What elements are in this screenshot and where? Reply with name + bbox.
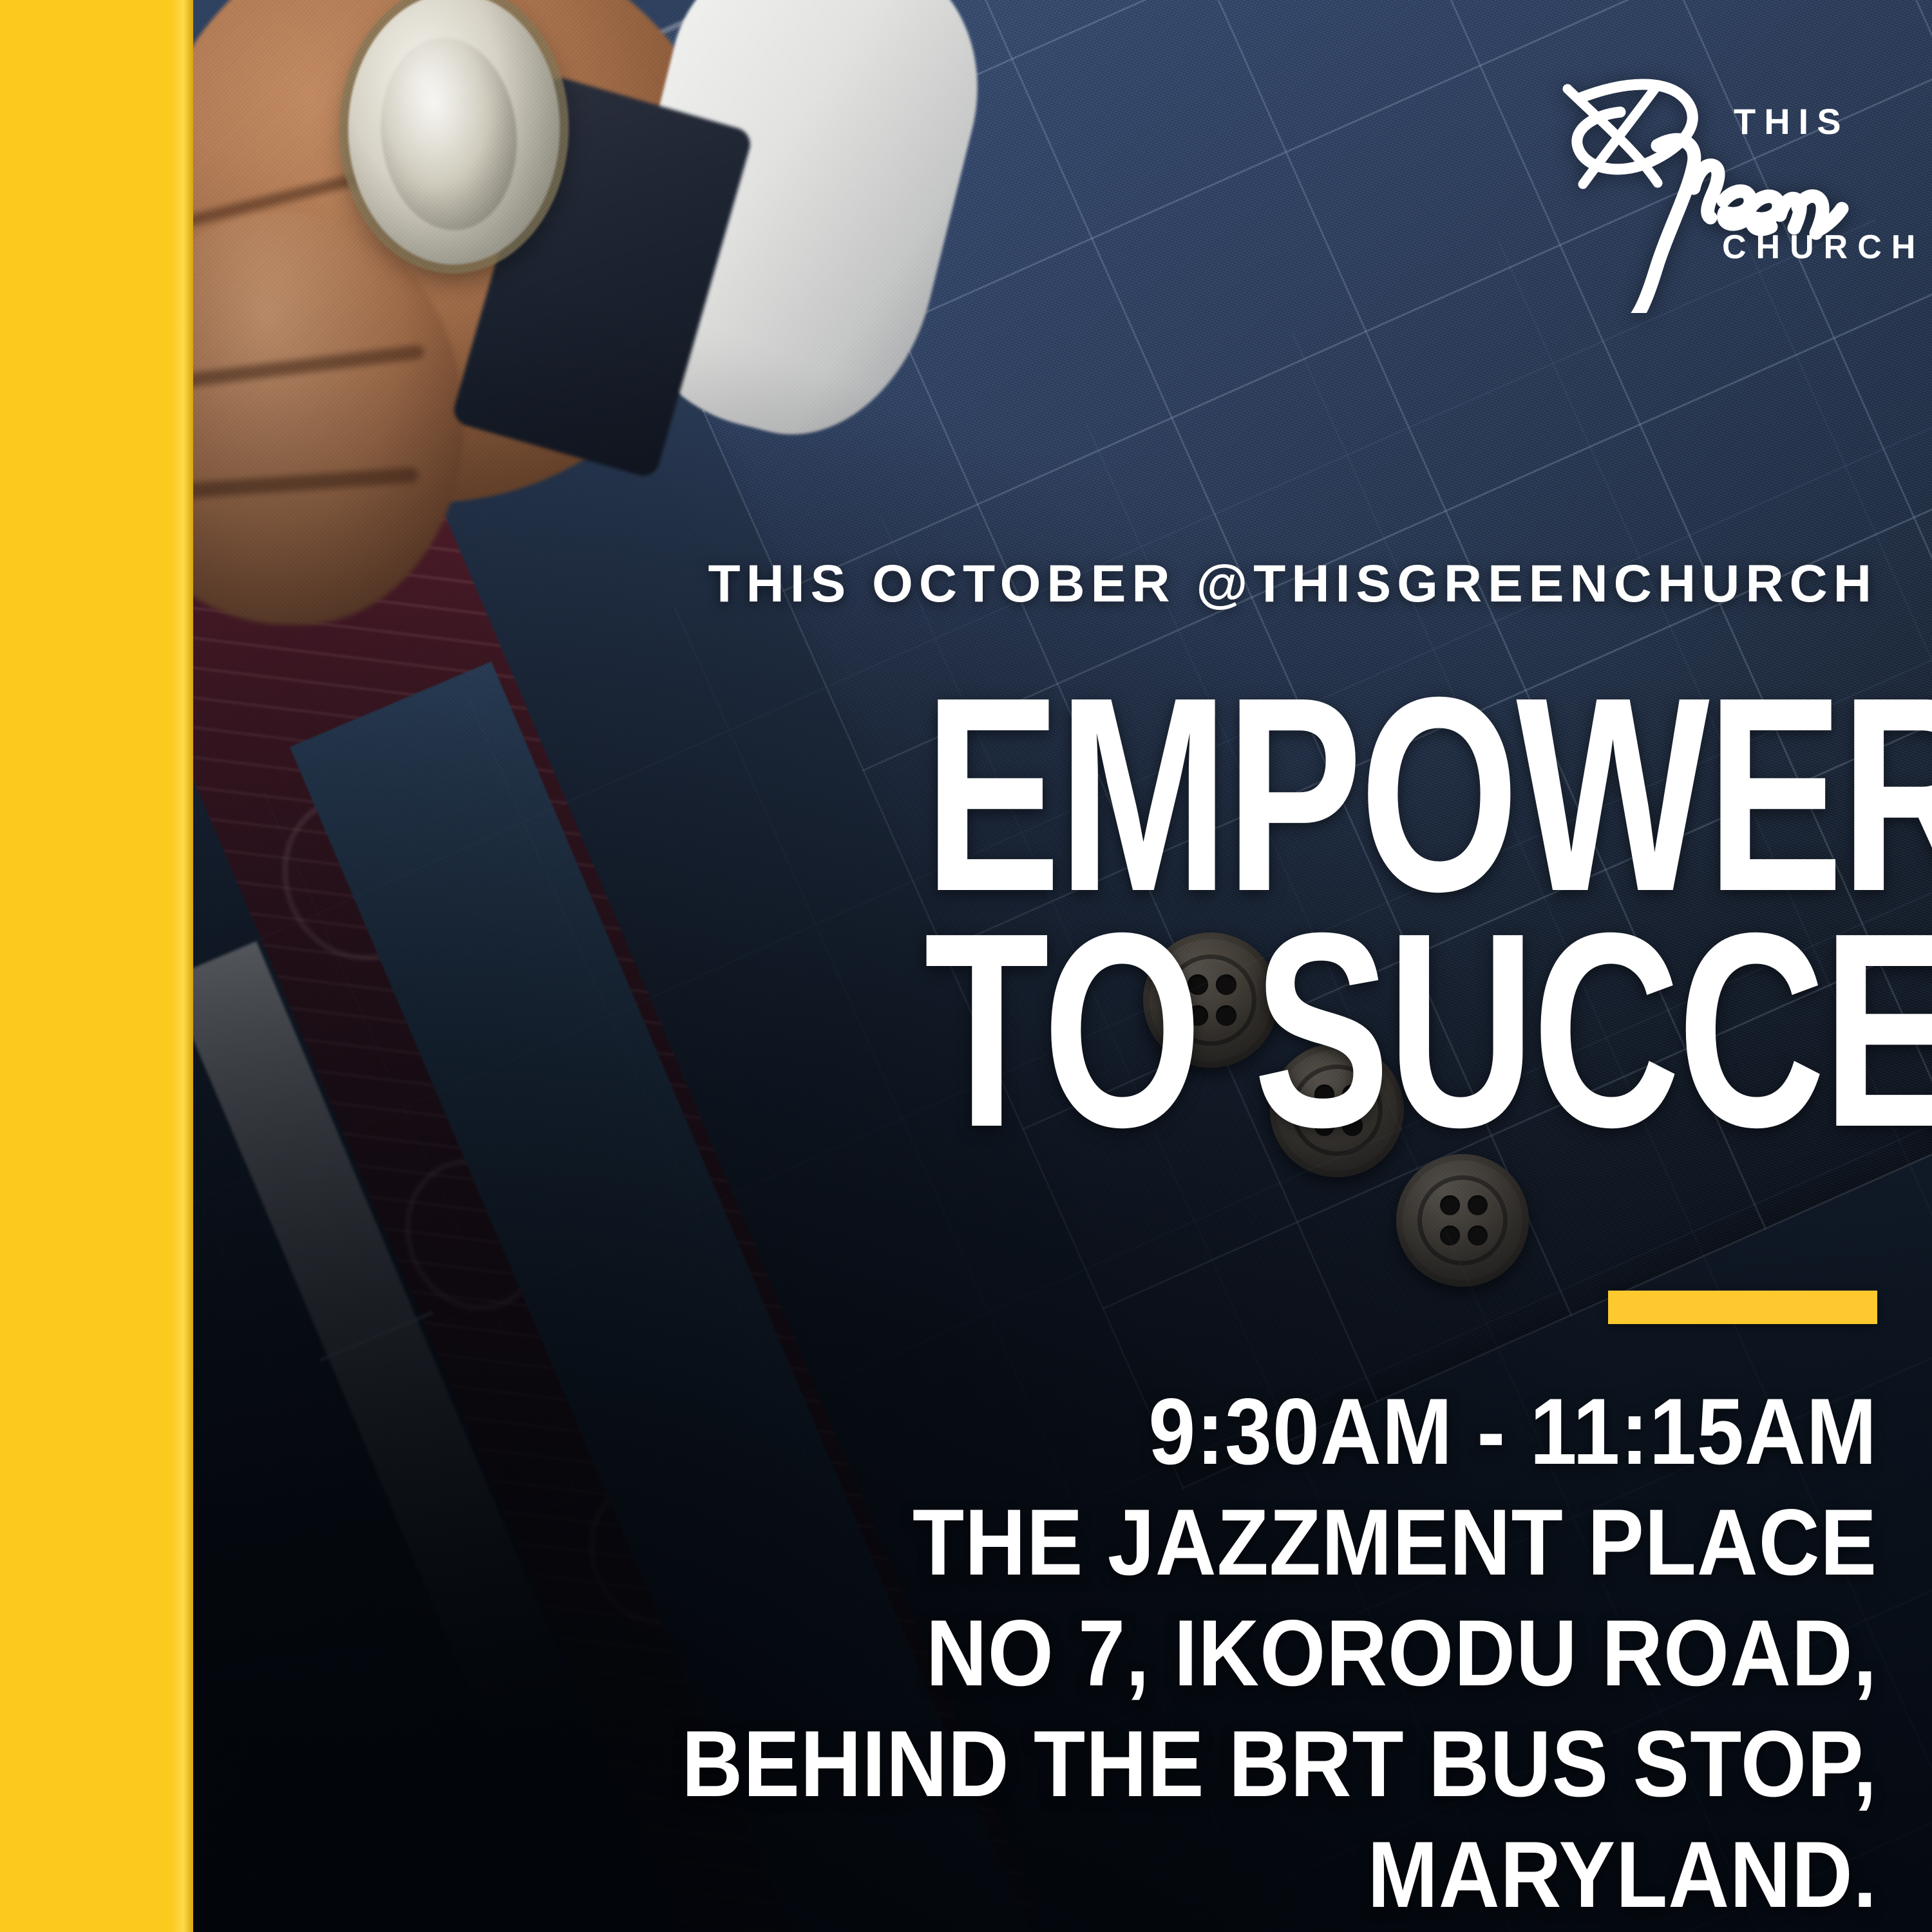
headline-line-1: EMPOWERED [924, 684, 1877, 905]
yellow-accent-rule [1608, 1291, 1877, 1324]
detail-street: NO 7, IKORODU ROAD, [660, 1606, 1877, 1700]
event-details: 9:30AM - 11:15AM THE JAZZMENT PLACE NO 7… [525, 1385, 1877, 1932]
green-script-wordmark [1628, 140, 1842, 313]
detail-venue: THE JAZZMENT PLACE [660, 1495, 1877, 1589]
logo-church-text: CHURCH [1722, 228, 1925, 267]
detail-time: 9:30AM - 11:15AM [660, 1385, 1877, 1479]
detail-landmark: BEHIND THE BRT BUS STOP, [660, 1717, 1877, 1811]
brand-logo[interactable]: THIS CHURCH [1561, 55, 1883, 313]
headline: EMPOWERED TO SUCCEED [589, 684, 1877, 1141]
detail-area: MARYLAND. [660, 1828, 1877, 1922]
yellow-bar-edge-sheen [171, 0, 193, 1932]
kicker-line: THIS OCTOBER @THISGREENCHURCH [708, 554, 1877, 614]
event-flyer: THIS CHURCH THIS OCTOBER @THISGREENCHURC… [0, 0, 1932, 1932]
headline-line-2: TO SUCCEED [924, 920, 1877, 1141]
left-yellow-bar [0, 0, 193, 1932]
logo-this-text: THIS [1734, 100, 1850, 142]
